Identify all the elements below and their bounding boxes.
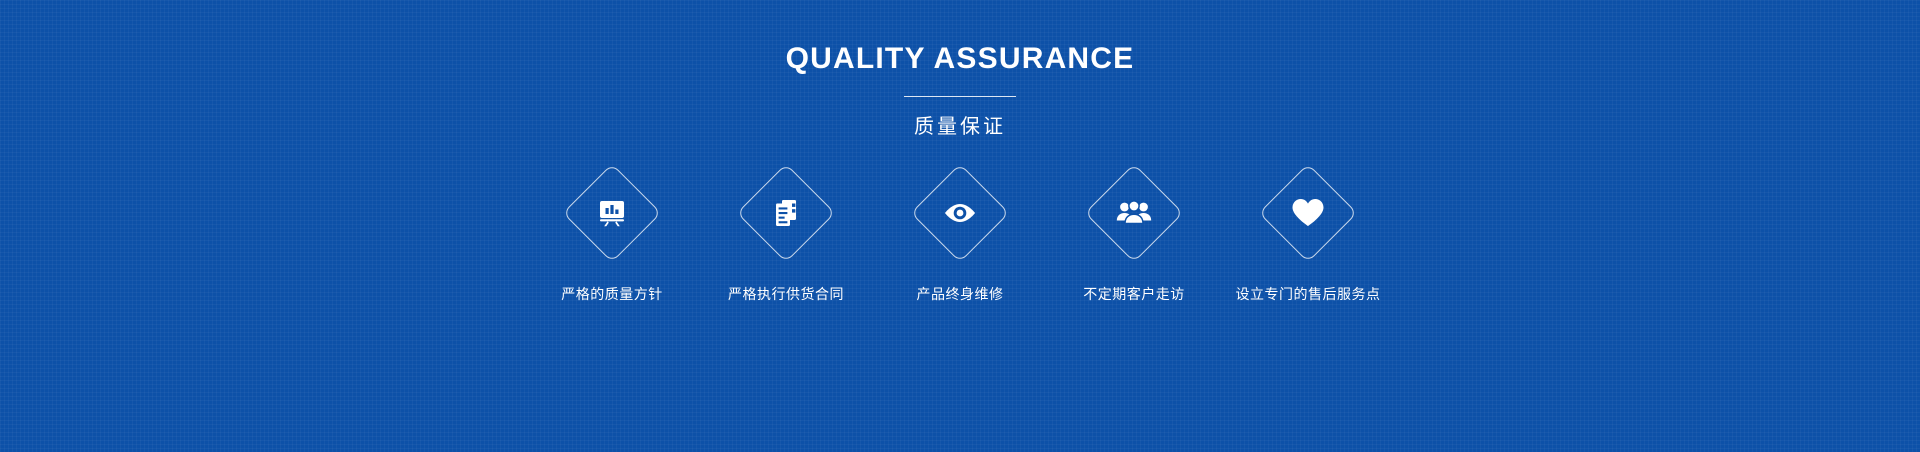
banner-header: QUALITY ASSURANCE 质量保证 — [0, 0, 1920, 136]
title-divider — [904, 96, 1016, 97]
feature-item-customer-visits[interactable]: 不定期客户走访 — [1047, 166, 1221, 302]
feature-list: 严格的质量方针 严格执行供货合同 — [0, 166, 1920, 302]
feature-item-label: 严格执行供货合同 — [728, 288, 844, 302]
people-group-icon — [1111, 190, 1157, 236]
page-title: QUALITY ASSURANCE — [0, 44, 1920, 74]
eye-icon — [937, 190, 983, 236]
feature-item-label: 严格的质量方针 — [561, 288, 663, 302]
feature-item-lifetime-repair[interactable]: 产品终身维修 — [873, 166, 1047, 302]
diamond-frame — [1259, 164, 1358, 263]
title-divider-wrap — [0, 96, 1920, 97]
feature-item-quality-policy[interactable]: 严格的质量方针 — [525, 166, 699, 302]
contract-document-icon — [763, 190, 809, 236]
presentation-chart-icon — [589, 190, 635, 236]
diamond-frame — [563, 164, 662, 263]
page-subtitle: 质量保证 — [0, 116, 1920, 136]
heart-icon — [1285, 190, 1331, 236]
feature-item-label: 不定期客户走访 — [1083, 288, 1185, 302]
feature-item-supply-contract[interactable]: 严格执行供货合同 — [699, 166, 873, 302]
diamond-frame — [911, 164, 1010, 263]
feature-item-label: 产品终身维修 — [917, 288, 1004, 302]
quality-assurance-banner: QUALITY ASSURANCE 质量保证 — [0, 0, 1920, 452]
diamond-frame — [737, 164, 836, 263]
feature-item-label: 设立专门的售后服务点 — [1236, 288, 1381, 302]
feature-item-after-sales[interactable]: 设立专门的售后服务点 — [1221, 166, 1395, 302]
diamond-frame — [1085, 164, 1184, 263]
